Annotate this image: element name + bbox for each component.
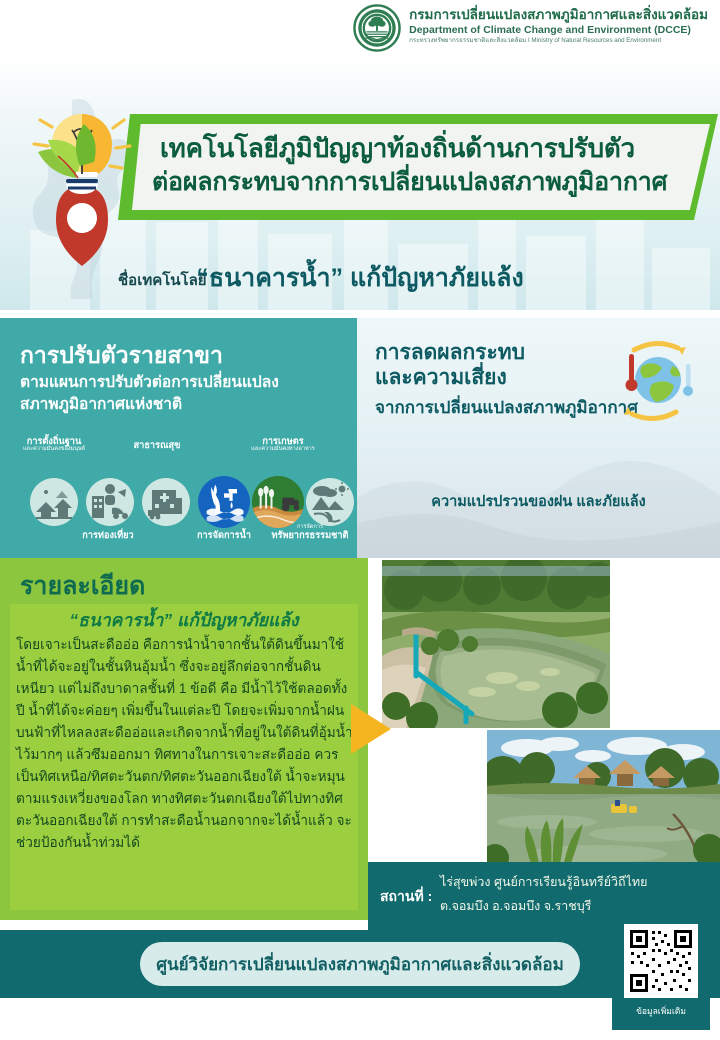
sector-label-water: การจัดการน้ำ [174,530,274,540]
sectors-subheading: ตามแผนการปรับตัวต่อการเปลี่ยนแปลง สภาพภู… [20,372,350,417]
right-arrow-icon [349,700,395,758]
pond-with-huts-photo [487,730,720,870]
location-line1: ไร่สุขพ่วง ศูนย์การเรียนรู้อินทรีย์วิถีไ… [440,872,647,892]
mitigation-heading: การลดผลกระทบ และความเสี่ยง [375,340,525,390]
dcce-emblem-icon [353,4,401,52]
details-subtitle: “ธนาคารน้ำ” แก้ปัญหาภัยแล้ง [0,606,368,634]
org-name-th: กรมการเปลี่ยนแปลงสภาพภูมิอากาศและสิ่งแวด… [409,7,708,23]
sector-icon-row: การตั้งถิ่นฐาน และความมั่นคงของมนุษย์ [4,464,354,550]
mitigation-heading-line1: การลดผลกระทบ [375,340,525,365]
technology-name-value: “ธนาคารน้ำ” แก้ปัญหาภัยแล้ง [0,258,720,298]
mitigation-panel: การลดผลกระทบ และความเสี่ยง จากการเปลี่ยน… [357,318,720,558]
organization-logo-block: กรมการเปลี่ยนแปลงสภาพภูมิอากาศและสิ่งแวด… [353,4,708,52]
globe-thermometer-icon [606,338,702,424]
thermometer-cold-icon [683,364,693,396]
sector-label-natural-resources: การจัดการ ทรัพยากรธรรมชาติ [262,524,358,541]
sector-label-tourism: การท่องเที่ยว [58,530,158,540]
location-line2: ต.จอมบึง อ.จอมบึง จ.ราชบุรี [440,896,591,916]
adaptation-sectors-panel: การปรับตัวรายสาขา ตามแผนการปรับตัวต่อการ… [0,318,357,558]
footer-center-label: ศูนย์วิจัยการเปลี่ยนแปลงสภาพภูมิอากาศและ… [156,951,564,978]
page-title-line2: ต่อผลกระทบจากการเปลี่ยนแปลงสภาพภูมิอากาศ [152,162,667,202]
thermometer-hot-icon [626,354,638,391]
organization-names: กรมการเปลี่ยนแปลงสภาพภูมิอากาศและสิ่งแวด… [409,4,708,45]
qr-caption: ข้อมูลเพิ่มเติม [636,1004,686,1018]
page-header: กรมการเปลี่ยนแปลงสภาพภูมิอากาศและสิ่งแวด… [0,0,720,64]
details-heading: รายละเอียด [20,566,145,606]
details-body-text: โดยเจาะเป็นสะดืออ่อ คือการนำน้ำจากชั้นใต… [16,634,354,854]
details-panel: รายละเอียด “ธนาคารน้ำ” แก้ปัญหาภัยแล้ง โ… [0,558,368,920]
sectors-subheading-line1: ตามแผนการปรับตัวต่อการเปลี่ยนแปลง [20,372,350,394]
sector-label-public-health: สาธารณสุข [112,440,202,450]
poster-root: กรมการเปลี่ยนแปลงสภาพภูมิอากาศและสิ่งแวด… [0,0,720,1040]
footer-center-pill: ศูนย์วิจัยการเปลี่ยนแปลงสภาพภูมิอากาศและ… [140,942,580,986]
pond-with-pipes-photo [382,560,610,728]
natural-resources-icon[interactable] [306,478,354,526]
org-name-en: Department of Climate Change and Environ… [409,24,708,37]
qr-block: ข้อมูลเพิ่มเติม [612,916,710,1030]
pond-photo-1 [382,560,610,728]
sectors-heading: การปรับตัวรายสาขา [20,338,223,374]
title-slab: เทคโนโลยีภูมิปัญญาท้องถิ่นด้านการปรับตัว… [118,114,718,224]
agriculture-icon[interactable] [252,476,304,528]
tourism-icon[interactable] [86,478,134,526]
location-label: สถานที่ : [380,886,432,908]
sector-label-settlement: การตั้งถิ่นฐาน และความมั่นคงของมนุษย์ [6,436,102,453]
mitigation-subheading: จากการเปลี่ยนแปลงสภาพภูมิอากาศ [375,394,638,421]
ministry-name: กระทรวงทรัพยากรธรรมชาติและสิ่งแวดล้อม I … [409,37,708,44]
qr-code-icon[interactable] [624,924,698,998]
mitigation-note: ความแปรปรวนของฝน และภัยแล้ง [357,490,720,513]
lightbulb-leaf-pin-icon [18,100,146,270]
water-management-icon[interactable] [198,476,250,528]
public-health-icon[interactable] [142,478,190,526]
mitigation-heading-line2: และความเสี่ยง [375,365,525,390]
settlement-icon[interactable] [30,478,78,526]
sector-label-agriculture: การเกษตร และความมั่นคงทางอาหาร [220,436,346,453]
sectors-subheading-line2: สภาพภูมิอากาศแห่งชาติ [20,394,350,416]
pond-photo-2 [487,730,720,870]
